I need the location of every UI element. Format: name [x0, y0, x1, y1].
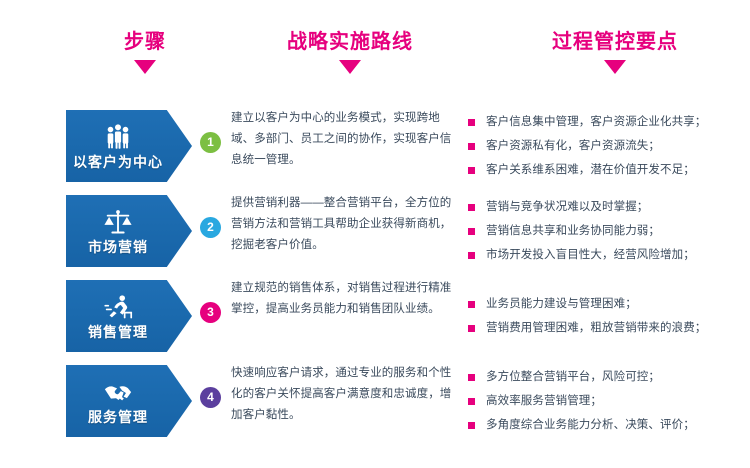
- list-item: 营销信息共享和业务协同能力弱；: [468, 219, 748, 243]
- hurdle-runner-icon: [103, 293, 133, 323]
- stage-description: 提供营销利器——整合营销平台，全方位的营销方法和营销工具帮助企业获得新商机，挖掘…: [231, 193, 453, 256]
- bullet-square-icon: [468, 252, 475, 259]
- roadmap-row: 以客户为中心 1 建立以客户为中心的业务模式，实现跨地域、多部门、员工之间的协作…: [0, 108, 750, 193]
- caret-down-icon: [339, 60, 361, 74]
- column-header-process-control: 过程管控要点: [500, 30, 730, 74]
- list-item: 业务员能力建设与管理困难；: [468, 292, 748, 316]
- list-item: 客户关系维系困难，潜在价值开发不足；: [468, 158, 748, 182]
- caret-down-icon: [604, 60, 626, 74]
- list-item: 多角度综合业务能力分析、决策、评价；: [468, 413, 748, 437]
- bullet-square-icon: [468, 204, 475, 211]
- stage-description: 建立以客户为中心的业务模式，实现跨地域、多部门、员工之间的协作，实现客户信息统一…: [231, 108, 453, 171]
- bullet-square-icon: [468, 228, 475, 235]
- handshake-icon: [103, 378, 133, 408]
- roadmap-row: 服务管理 4 快速响应客户请求，通过专业的服务和个性化的客户关怀提高客户满意度和…: [0, 363, 750, 448]
- column-header-title: 步骤: [55, 30, 235, 54]
- column-header-steps: 步骤: [55, 30, 235, 74]
- list-item: 营销费用管理困难，粗放营销带来的浪费；: [468, 316, 748, 340]
- list-item: 客户信息集中管理，客户资源企业化共享；: [468, 110, 748, 134]
- stage-badge-marketing[interactable]: 市场营销: [66, 195, 192, 267]
- column-header-strategy-route: 战略实施路线: [250, 30, 450, 74]
- list-item-label: 客户关系维系困难，潜在价值开发不足；: [486, 164, 695, 176]
- stage-badge-label: 市场营销: [88, 239, 148, 255]
- control-points-list: 多方位整合营销平台，风险可控； 高效率服务营销管理； 多角度综合业务能力分析、决…: [468, 365, 748, 437]
- bullet-square-icon: [468, 325, 475, 332]
- list-item-label: 高效率服务营销管理；: [486, 395, 602, 407]
- step-number-badge: 3: [200, 302, 221, 323]
- stage-badge-label: 销售管理: [88, 324, 148, 340]
- bullet-square-icon: [468, 143, 475, 150]
- roadmap-row: 销售管理 3 建立规范的销售体系，对销售过程进行精准掌控，提高业务员能力和销售团…: [0, 278, 750, 363]
- stage-badge-label: 以客户为中心: [73, 154, 163, 170]
- list-item-label: 客户资源私有化，客户资源流失；: [486, 140, 660, 152]
- list-item-label: 业务员能力建设与管理困难；: [486, 298, 637, 310]
- stage-badge-customer-center[interactable]: 以客户为中心: [66, 110, 192, 182]
- column-headers: 步骤 战略实施路线 过程管控要点: [0, 0, 750, 100]
- list-item-label: 多方位整合营销平台，风险可控；: [486, 371, 660, 383]
- list-item-label: 市场开发投入盲目性大，经营风险增加；: [486, 249, 695, 261]
- column-header-title: 战略实施路线: [250, 30, 450, 54]
- stage-description: 快速响应客户请求，通过专业的服务和个性化的客户关怀提高客户满意度和忠诚度，增加客…: [231, 363, 453, 426]
- list-item: 多方位整合营销平台，风险可控；: [468, 365, 748, 389]
- list-item-label: 多角度综合业务能力分析、决策、评价；: [486, 419, 695, 431]
- list-item: 营销与竞争状况难以及时掌握；: [468, 195, 748, 219]
- balance-scale-icon: [103, 208, 133, 238]
- step-number-badge: 4: [200, 387, 221, 408]
- list-item-label: 营销费用管理困难，粗放营销带来的浪费；: [486, 322, 706, 334]
- bullet-square-icon: [468, 398, 475, 405]
- list-item: 客户资源私有化，客户资源流失；: [468, 134, 748, 158]
- roadmap-row: 市场营销 2 提供营销利器——整合营销平台，全方位的营销方法和营销工具帮助企业获…: [0, 193, 750, 278]
- caret-down-icon: [134, 60, 156, 74]
- stage-badge-service[interactable]: 服务管理: [66, 365, 192, 437]
- step-number-badge: 2: [200, 217, 221, 238]
- list-item-label: 客户信息集中管理，客户资源企业化共享；: [486, 116, 706, 128]
- stage-badge-sales[interactable]: 销售管理: [66, 280, 192, 352]
- bullet-square-icon: [468, 119, 475, 126]
- stage-description: 建立规范的销售体系，对销售过程进行精准掌控，提高业务员能力和销售团队业绩。: [231, 278, 453, 320]
- list-item: 高效率服务营销管理；: [468, 389, 748, 413]
- control-points-list: 客户信息集中管理，客户资源企业化共享； 客户资源私有化，客户资源流失； 客户关系…: [468, 110, 748, 182]
- bullet-square-icon: [468, 301, 475, 308]
- list-item-label: 营销信息共享和业务协同能力弱；: [486, 225, 660, 237]
- control-points-list: 营销与竞争状况难以及时掌握； 营销信息共享和业务协同能力弱； 市场开发投入盲目性…: [468, 195, 748, 267]
- step-number-badge: 1: [200, 132, 221, 153]
- control-points-list: 业务员能力建设与管理困难； 营销费用管理困难，粗放营销带来的浪费；: [468, 292, 748, 340]
- bullet-square-icon: [468, 167, 475, 174]
- bullet-square-icon: [468, 422, 475, 429]
- people-group-icon: [103, 123, 133, 153]
- column-header-title: 过程管控要点: [500, 30, 730, 54]
- bullet-square-icon: [468, 374, 475, 381]
- strategy-roadmap-infographic: 步骤 战略实施路线 过程管控要点: [0, 0, 750, 468]
- list-item-label: 营销与竞争状况难以及时掌握；: [486, 201, 648, 213]
- stage-badge-label: 服务管理: [88, 409, 148, 425]
- list-item: 市场开发投入盲目性大，经营风险增加；: [468, 243, 748, 267]
